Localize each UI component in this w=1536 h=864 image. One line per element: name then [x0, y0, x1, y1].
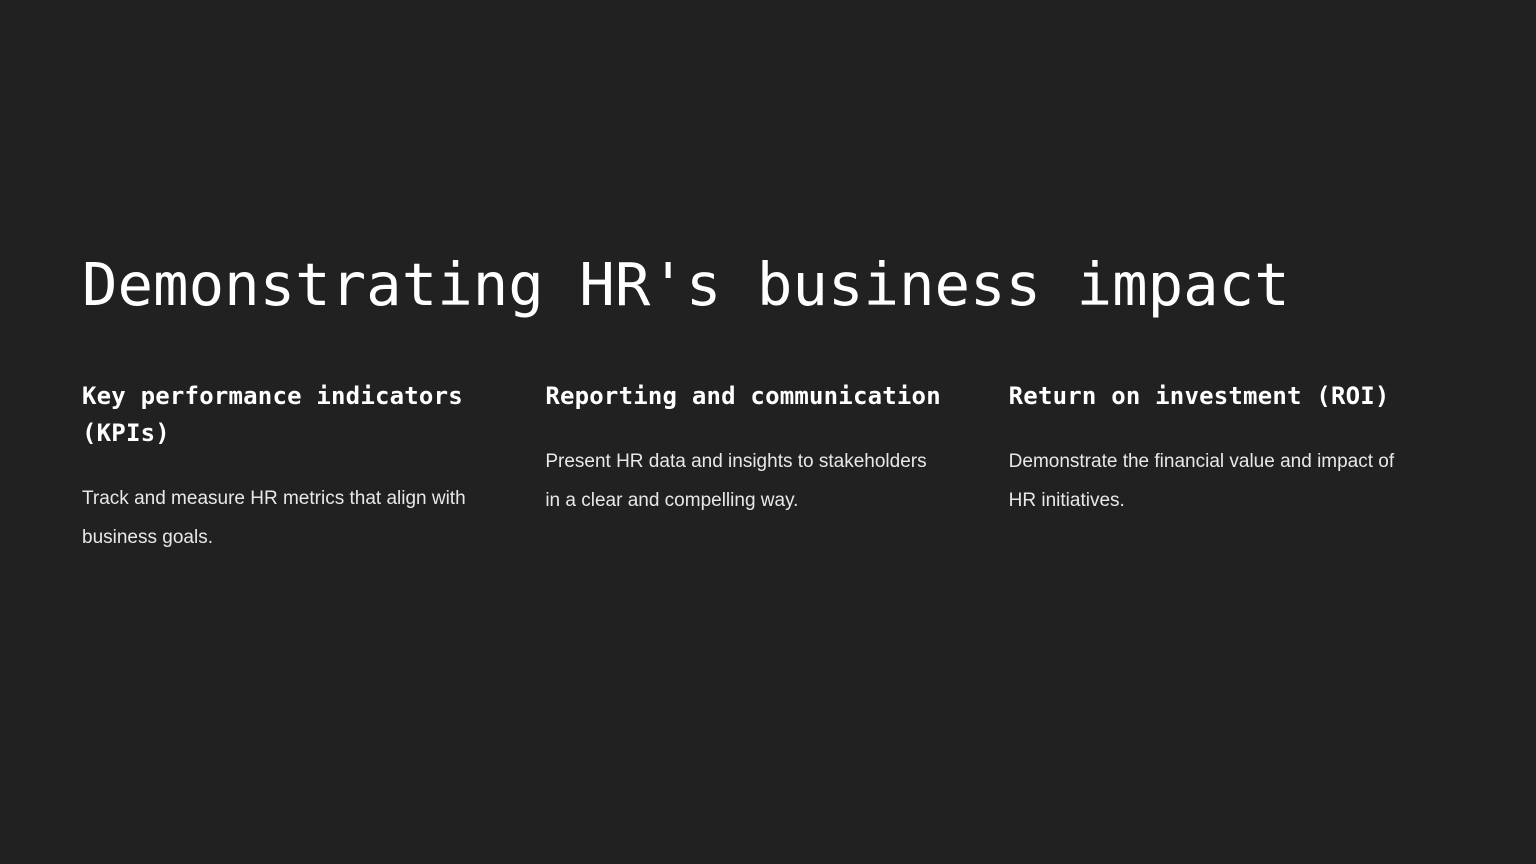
- column-body-kpi: Track and measure HR metrics that align …: [82, 452, 485, 557]
- content-columns: Key performance indicators (KPIs) Track …: [82, 378, 1472, 557]
- column-heading-reporting: Reporting and communication: [545, 378, 948, 415]
- page-title: Demonstrating HR's business impact: [82, 248, 1462, 322]
- content-column-kpi: Key performance indicators (KPIs) Track …: [82, 378, 545, 557]
- column-body-roi: Demonstrate the financial value and impa…: [1009, 415, 1409, 520]
- column-body-reporting: Present HR data and insights to stakehol…: [545, 415, 945, 520]
- column-heading-roi: Return on investment (ROI): [1009, 378, 1412, 415]
- presentation-slide: Demonstrating HR's business impact Key p…: [0, 0, 1536, 864]
- content-column-reporting: Reporting and communication Present HR d…: [545, 378, 1008, 520]
- content-column-roi: Return on investment (ROI) Demonstrate t…: [1009, 378, 1472, 520]
- column-heading-kpi: Key performance indicators (KPIs): [82, 378, 485, 452]
